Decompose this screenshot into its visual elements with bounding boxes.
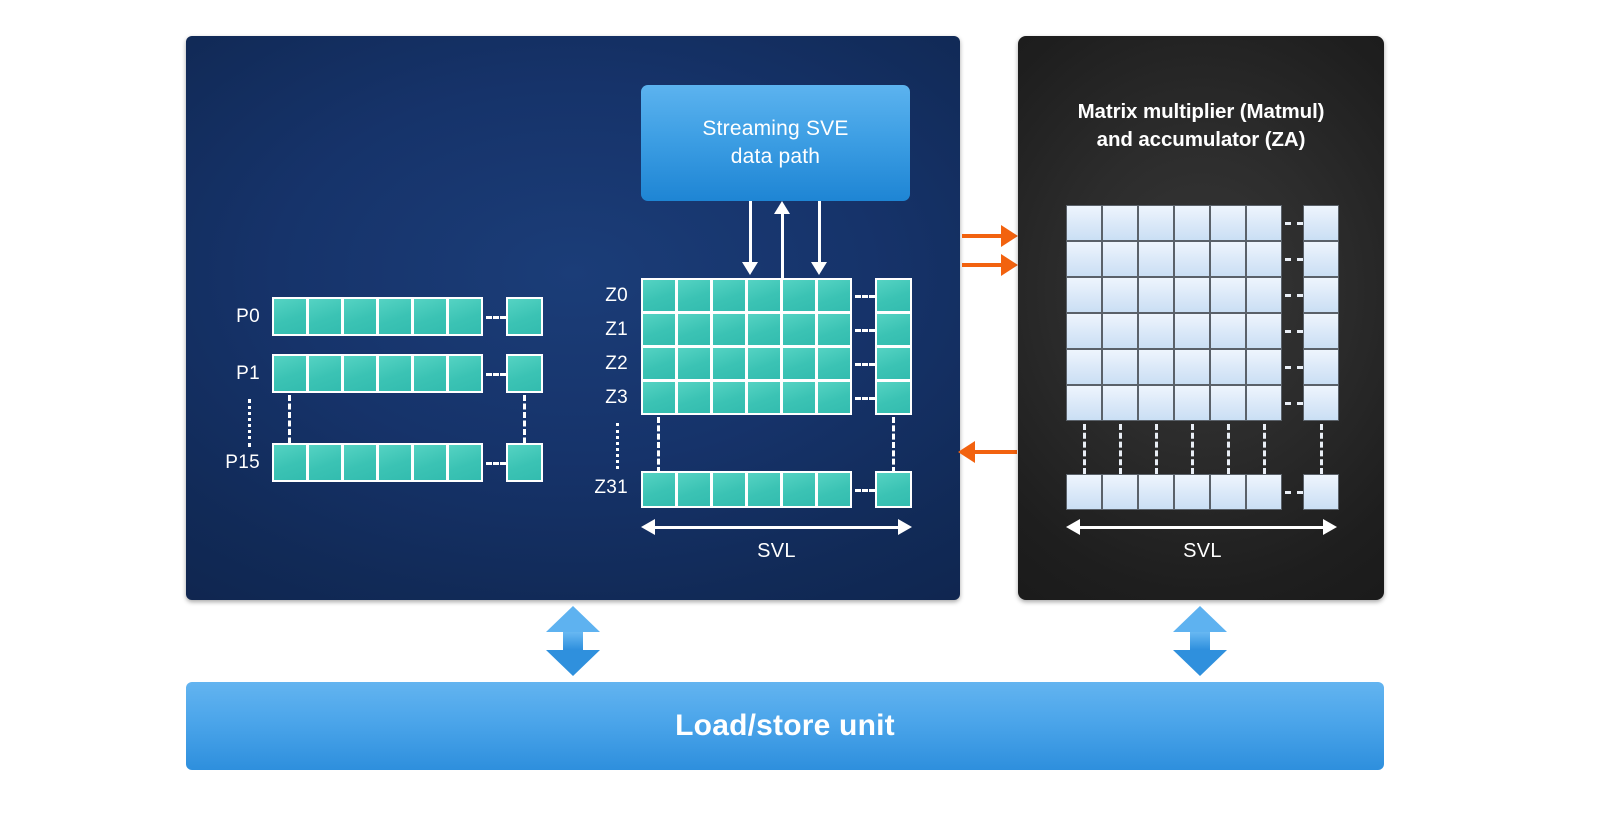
p15-cell: [377, 443, 413, 482]
p0-cell: [377, 297, 413, 336]
za-col-connector: [1119, 424, 1122, 474]
za-col-connector: [1191, 424, 1194, 474]
z2-ellipsis-dash: [855, 363, 875, 366]
arrow-shaft: [1190, 632, 1210, 650]
z0-cell: [676, 278, 712, 313]
za-cell: [1066, 385, 1102, 421]
za-cell: [1174, 313, 1210, 349]
load-store-unit-label: Load/store unit: [675, 709, 895, 743]
predicate-vertical-ellipsis: [248, 399, 251, 447]
za-cell: [1102, 241, 1138, 277]
z3-cell: [676, 380, 712, 415]
vector-label-z0: Z0: [578, 285, 628, 307]
za-cell: [1246, 313, 1282, 349]
za-bottom-cell: [1138, 474, 1174, 510]
za-bottom-cell: [1210, 474, 1246, 510]
z1-ellipsis-dash: [855, 329, 875, 332]
za-cell: [1210, 385, 1246, 421]
sve-write-shaft-1: [749, 201, 752, 263]
blue-double-arrow-right: [1172, 606, 1228, 676]
predicate-label-p0: P0: [200, 306, 260, 328]
z3-cell: [711, 380, 747, 415]
za-row-ellipsis-dash: [1285, 294, 1303, 297]
za-tail-cell: [1303, 349, 1339, 385]
p15-cell: [412, 443, 448, 482]
za-cell: [1210, 241, 1246, 277]
za-tail-cell: [1303, 385, 1339, 421]
za-cell: [1102, 385, 1138, 421]
za-bottom-cell: [1102, 474, 1138, 510]
z31-cell: [746, 471, 782, 508]
p0-cell: [307, 297, 343, 336]
za-panel-title: Matrix multiplier (Matmul) and accumulat…: [1030, 98, 1372, 155]
z31-cell: [641, 471, 677, 508]
p0-tail-cell: [506, 297, 543, 336]
z2-cell: [676, 346, 712, 381]
z31-tail-cell: [875, 471, 912, 508]
za-cell: [1102, 313, 1138, 349]
za-cell: [1246, 241, 1282, 277]
za-bottom-ellipsis-dash: [1285, 491, 1303, 494]
z3-cell: [816, 380, 852, 415]
za-row-ellipsis-dash: [1285, 258, 1303, 261]
za-bottom-tail-cell: [1303, 474, 1339, 510]
p0-cell: [272, 297, 308, 336]
z2-cell: [816, 346, 852, 381]
orange-arrow-shaft-3: [975, 450, 1017, 454]
z3-cell: [641, 380, 677, 415]
za-tail-cell: [1303, 277, 1339, 313]
za-col-connector: [1227, 424, 1230, 474]
za-bottom-cell: [1174, 474, 1210, 510]
orange-arrow-head-left-3: [958, 441, 975, 463]
za-cell: [1102, 277, 1138, 313]
p1-cell: [412, 354, 448, 393]
za-cell: [1066, 313, 1102, 349]
za-cell: [1066, 241, 1102, 277]
z0-cell: [641, 278, 677, 313]
blue-double-arrow-left: [545, 606, 601, 676]
sve-write-arrow-down-2: [811, 262, 827, 275]
arrow-head-down: [546, 650, 600, 676]
za-title-line-2: and accumulator (ZA): [1097, 128, 1306, 151]
za-cell: [1246, 205, 1282, 241]
za-cell: [1210, 277, 1246, 313]
p1-cell: [342, 354, 378, 393]
vector-label-z2: Z2: [578, 353, 628, 375]
load-store-unit-bar[interactable]: Load/store unit: [186, 682, 1384, 770]
p1-cell: [307, 354, 343, 393]
za-bottom-cell: [1066, 474, 1102, 510]
za-cell: [1102, 205, 1138, 241]
p1-cell: [377, 354, 413, 393]
z1-cell: [641, 312, 677, 347]
za-cell: [1066, 205, 1102, 241]
streaming-sve-data-path-box[interactable]: Streaming SVE data path: [641, 85, 910, 201]
sve-read-arrow-up: [774, 201, 790, 214]
z0-cell: [746, 278, 782, 313]
za-cell: [1210, 313, 1246, 349]
za-title-line-1: Matrix multiplier (Matmul): [1078, 100, 1325, 123]
diagram-canvas: Streaming SVE data path P0 P1 P15 Z0 Z: [0, 0, 1604, 830]
sve-write-shaft-2: [818, 201, 821, 263]
p1-tail-cell: [506, 354, 543, 393]
z1-cell: [816, 312, 852, 347]
z31-ellipsis-dash: [855, 489, 875, 492]
z3-cell: [746, 380, 782, 415]
za-bottom-cell: [1246, 474, 1282, 510]
z3-cell: [781, 380, 817, 415]
p0-cell: [342, 297, 378, 336]
za-row-ellipsis-dash: [1285, 330, 1303, 333]
za-cell: [1246, 277, 1282, 313]
z2-tail-cell: [875, 346, 912, 381]
za-cell: [1210, 205, 1246, 241]
z1-cell: [711, 312, 747, 347]
za-cell: [1174, 349, 1210, 385]
za-cell: [1174, 277, 1210, 313]
z0-cell: [781, 278, 817, 313]
z-column-connector-right: [892, 417, 895, 473]
za-cell: [1138, 349, 1174, 385]
z0-cell: [816, 278, 852, 313]
sve-box-line-2: data path: [731, 145, 820, 168]
za-cell: [1138, 205, 1174, 241]
z31-cell: [781, 471, 817, 508]
z31-cell: [711, 471, 747, 508]
za-row-ellipsis-dash: [1285, 402, 1303, 405]
za-row-ellipsis-dash: [1285, 222, 1303, 225]
z3-tail-cell: [875, 380, 912, 415]
sve-read-shaft: [781, 214, 784, 278]
z0-cell: [711, 278, 747, 313]
za-cell: [1210, 349, 1246, 385]
za-cell: [1138, 241, 1174, 277]
za-col-connector: [1083, 424, 1086, 474]
p15-tail-cell: [506, 443, 543, 482]
z1-cell: [746, 312, 782, 347]
z31-cell: [816, 471, 852, 508]
svl-label-blue: SVL: [641, 540, 912, 563]
z2-cell: [781, 346, 817, 381]
za-cell: [1138, 277, 1174, 313]
za-col-connector: [1155, 424, 1158, 474]
arrow-shaft: [563, 632, 583, 650]
orange-arrow-shaft-1: [962, 234, 1004, 238]
p15-cell: [307, 443, 343, 482]
za-cell: [1066, 349, 1102, 385]
p1-ellipsis-dash: [486, 373, 506, 376]
z2-cell: [711, 346, 747, 381]
za-cell: [1174, 241, 1210, 277]
vector-label-z1: Z1: [578, 319, 628, 341]
sve-box-line-1: Streaming SVE: [702, 117, 848, 140]
arrow-head-up: [546, 606, 600, 632]
za-col-connector-tail: [1320, 424, 1323, 474]
arrow-head-down: [1173, 650, 1227, 676]
vector-label-z31: Z31: [568, 477, 628, 499]
za-cell: [1138, 313, 1174, 349]
svl-arrow-right-head-blue: [898, 519, 912, 535]
z0-ellipsis-dash: [855, 295, 875, 298]
p15-cell: [342, 443, 378, 482]
predicate-label-p1: P1: [200, 363, 260, 385]
za-col-connector: [1263, 424, 1266, 474]
z-column-connector-left: [657, 417, 660, 473]
p0-cell: [447, 297, 483, 336]
za-tail-cell: [1303, 313, 1339, 349]
orange-arrow-head-right-1: [1001, 225, 1018, 247]
svl-arrow-shaft-black: [1075, 526, 1329, 529]
z0-tail-cell: [875, 278, 912, 313]
orange-arrow-head-right-2: [1001, 254, 1018, 276]
z1-tail-cell: [875, 312, 912, 347]
za-cell: [1174, 385, 1210, 421]
za-cell: [1102, 349, 1138, 385]
p15-ellipsis-dash: [486, 462, 506, 465]
p15-cell: [447, 443, 483, 482]
p15-cell: [272, 443, 308, 482]
p1-cell: [272, 354, 308, 393]
za-tail-cell: [1303, 205, 1339, 241]
z1-cell: [781, 312, 817, 347]
z1-cell: [676, 312, 712, 347]
z31-cell: [676, 471, 712, 508]
vector-label-z3: Z3: [578, 387, 628, 409]
z2-cell: [641, 346, 677, 381]
svl-arrow-right-head-black: [1323, 519, 1337, 535]
predicate-label-p15: P15: [190, 452, 260, 474]
svl-arrow-shaft-blue: [650, 526, 904, 529]
za-row-ellipsis-dash: [1285, 366, 1303, 369]
za-cell: [1138, 385, 1174, 421]
z2-cell: [746, 346, 782, 381]
svl-label-black: SVL: [1066, 540, 1339, 563]
za-cell: [1174, 205, 1210, 241]
za-tail-cell: [1303, 241, 1339, 277]
vector-vertical-ellipsis: [616, 423, 619, 469]
p0-cell: [412, 297, 448, 336]
p0-ellipsis-dash: [486, 316, 506, 319]
za-cell: [1246, 385, 1282, 421]
orange-arrow-shaft-2: [962, 263, 1004, 267]
p1-cell: [447, 354, 483, 393]
arrow-head-up: [1173, 606, 1227, 632]
za-cell: [1066, 277, 1102, 313]
z3-ellipsis-dash: [855, 397, 875, 400]
sve-write-arrow-down-1: [742, 262, 758, 275]
za-cell: [1246, 349, 1282, 385]
